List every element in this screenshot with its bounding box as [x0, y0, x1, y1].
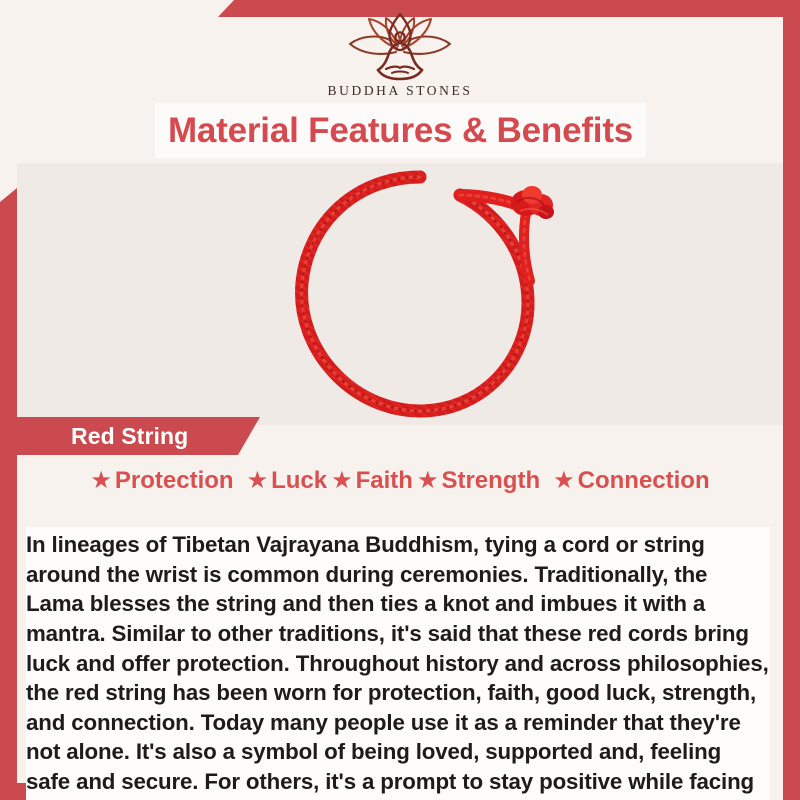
brand-header: BUDDHA STONES [0, 10, 800, 99]
star-icon: ★ [247, 469, 269, 493]
lotus-meditation-icon [336, 10, 464, 82]
star-icon: ★ [331, 469, 353, 493]
brand-name: BUDDHA STONES [328, 83, 473, 99]
star-icon: ★ [417, 469, 439, 493]
infographic-page: BUDDHA STONES Material Features & Benefi… [0, 0, 800, 800]
benefits-row: ★ Protection ★ Luck ★ Faith ★ Strength ★… [17, 464, 783, 498]
star-icon: ★ [90, 469, 112, 493]
benefit-protection: ★ Protection [90, 469, 233, 493]
body-description: In lineages of Tibetan Vajrayana Buddhis… [26, 527, 770, 800]
benefit-label: Connection [578, 469, 710, 493]
benefit-faith: ★ Faith [331, 469, 413, 493]
headline-banner: Material Features & Benefits [155, 103, 646, 158]
frame-band-left [0, 188, 17, 800]
knot [511, 186, 554, 219]
product-photo [17, 163, 783, 425]
page-title: Material Features & Benefits [168, 111, 633, 151]
section-ribbon: Red String [17, 417, 260, 455]
benefit-connection: ★ Connection [553, 469, 710, 493]
benefit-label: Faith [356, 469, 413, 493]
benefit-strength: ★ Strength [417, 469, 540, 493]
benefit-label: Luck [271, 469, 327, 493]
frame-band-right [783, 0, 800, 800]
section-title: Red String [71, 423, 188, 450]
benefit-label: Strength [441, 469, 540, 493]
benefit-label: Protection [115, 469, 234, 493]
star-icon: ★ [553, 469, 575, 493]
benefit-luck: ★ Luck [247, 469, 328, 493]
